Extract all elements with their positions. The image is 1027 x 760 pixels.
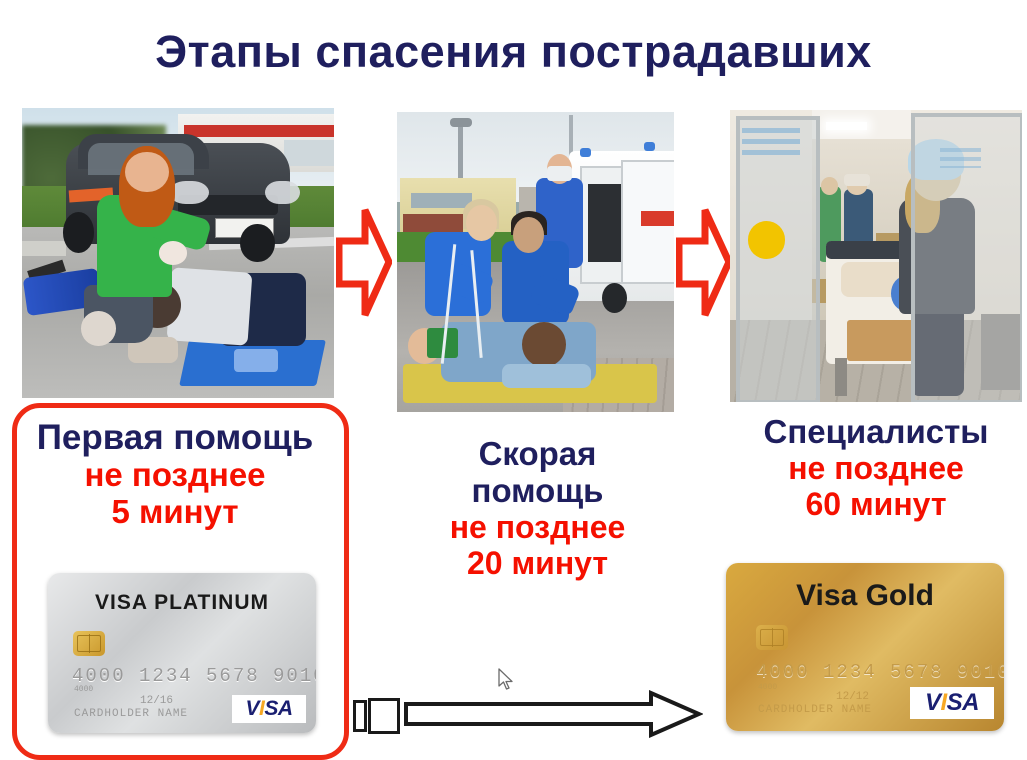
card-number: 4000 1234 5678 9010: [72, 665, 316, 687]
stage-photo-first-aid: [22, 108, 334, 398]
car-wheel-front: [240, 224, 274, 262]
card-holder-name: CARDHOLDER NAME: [74, 708, 188, 720]
staff-blue-cap: [844, 174, 870, 186]
glass-door-left: [736, 116, 820, 402]
ambulance-interior: [588, 184, 621, 262]
paramedic-right-head: [513, 217, 543, 253]
visa-gold-card: Visa Gold 4000 1234 5678 9010 4000 12/12…: [726, 563, 1004, 731]
stage-deadline-label: не позднее: [730, 451, 1022, 487]
stage-caption-specialists: Специалисты не позднее 60 минут: [730, 414, 1022, 523]
stage-caption-first-aid: Первая помощь не позднее 5 минут: [14, 418, 336, 531]
card-chip-icon: [73, 631, 105, 656]
visa-logo-icon: VISA: [232, 695, 306, 723]
stage-deadline-value: 60 минут: [730, 487, 1022, 523]
ambulance-beacon-right: [644, 142, 655, 151]
visa-logo-text: VISA: [925, 689, 979, 717]
card-number: 4000 1234 5678 9010: [756, 661, 1004, 683]
glass-door-text: [742, 128, 800, 157]
ambulance-beacon-left: [580, 148, 591, 157]
yellow-sticker: [748, 221, 786, 259]
rescuer-knee: [81, 311, 115, 346]
timeline-right-arrow-icon: [403, 690, 703, 738]
ambulance-red-stripe: [641, 211, 674, 226]
paramedic-standing-mask: [547, 166, 572, 181]
blue-mat-logo: [234, 349, 278, 372]
card-chip-icon: [756, 625, 788, 650]
mouse-pointer-icon: [498, 668, 516, 692]
right-arrow-icon: [336, 205, 392, 320]
car-headlight-right: [265, 181, 299, 204]
rescuer-head: [125, 152, 169, 193]
timeline-tick-square: [368, 698, 400, 734]
stage-deadline-label: не позднее: [14, 457, 336, 494]
patient-arm: [502, 364, 591, 388]
card-expiry: 12/12: [836, 691, 869, 703]
card-brand-label: Visa Gold: [726, 579, 1004, 613]
glass-door-text-right: [940, 148, 981, 168]
scene-roadside-first-aid: [22, 108, 334, 398]
scene-hospital-corridor: [730, 110, 1022, 402]
stage-caption-ambulance: Скорая помощь не позднее 20 минут: [400, 436, 675, 582]
rescuer-gloved-hand: [159, 241, 187, 264]
scene-ambulance-crew: [397, 112, 674, 412]
card-holder-name: CARDHOLDER NAME: [758, 704, 872, 716]
presentation-slide: Этапы спасения пострадавших: [0, 0, 1027, 760]
light-pole-lamp: [450, 118, 472, 127]
page-title: Этапы спасения пострадавших: [0, 26, 1027, 78]
paramedic-left-head: [466, 205, 496, 241]
building-red-stripe: [184, 125, 334, 137]
ceiling-light: [826, 122, 867, 131]
stage-deadline-value: 20 минут: [400, 546, 675, 582]
car-wheel-rear: [63, 212, 94, 253]
stage-deadline-label: не позднее: [400, 510, 675, 546]
stage-heading: Первая помощь: [14, 418, 336, 457]
visa-logo-icon: VISA: [910, 687, 994, 719]
stage-heading: Специалисты: [730, 414, 1022, 451]
stage-photo-hospital: [730, 110, 1022, 402]
staff-green-head: [821, 177, 839, 195]
ambulance-wheel: [602, 283, 627, 313]
timeline-tick-small: [353, 700, 367, 732]
stage-deadline-value: 5 минут: [14, 494, 336, 531]
card-expiry: 12/16: [140, 695, 173, 707]
stage-photo-ambulance: [397, 112, 674, 412]
card-sub-number: 4000: [758, 683, 777, 692]
patient-head: [522, 322, 566, 367]
visa-logo-text: VISA: [245, 697, 292, 721]
stage-heading-line1: Скорая: [400, 436, 675, 473]
building-window: [284, 140, 334, 166]
card-brand-label: VISA PLATINUM: [48, 591, 316, 615]
stage-heading-line2: помощь: [400, 473, 675, 510]
building-windows: [411, 193, 472, 208]
visa-platinum-card: VISA PLATINUM 4000 1234 5678 9010 4000 1…: [48, 573, 316, 733]
card-sub-number: 4000: [74, 685, 93, 694]
gurney-leg: [835, 358, 847, 396]
right-arrow-icon: [676, 205, 732, 320]
curb: [22, 241, 66, 256]
